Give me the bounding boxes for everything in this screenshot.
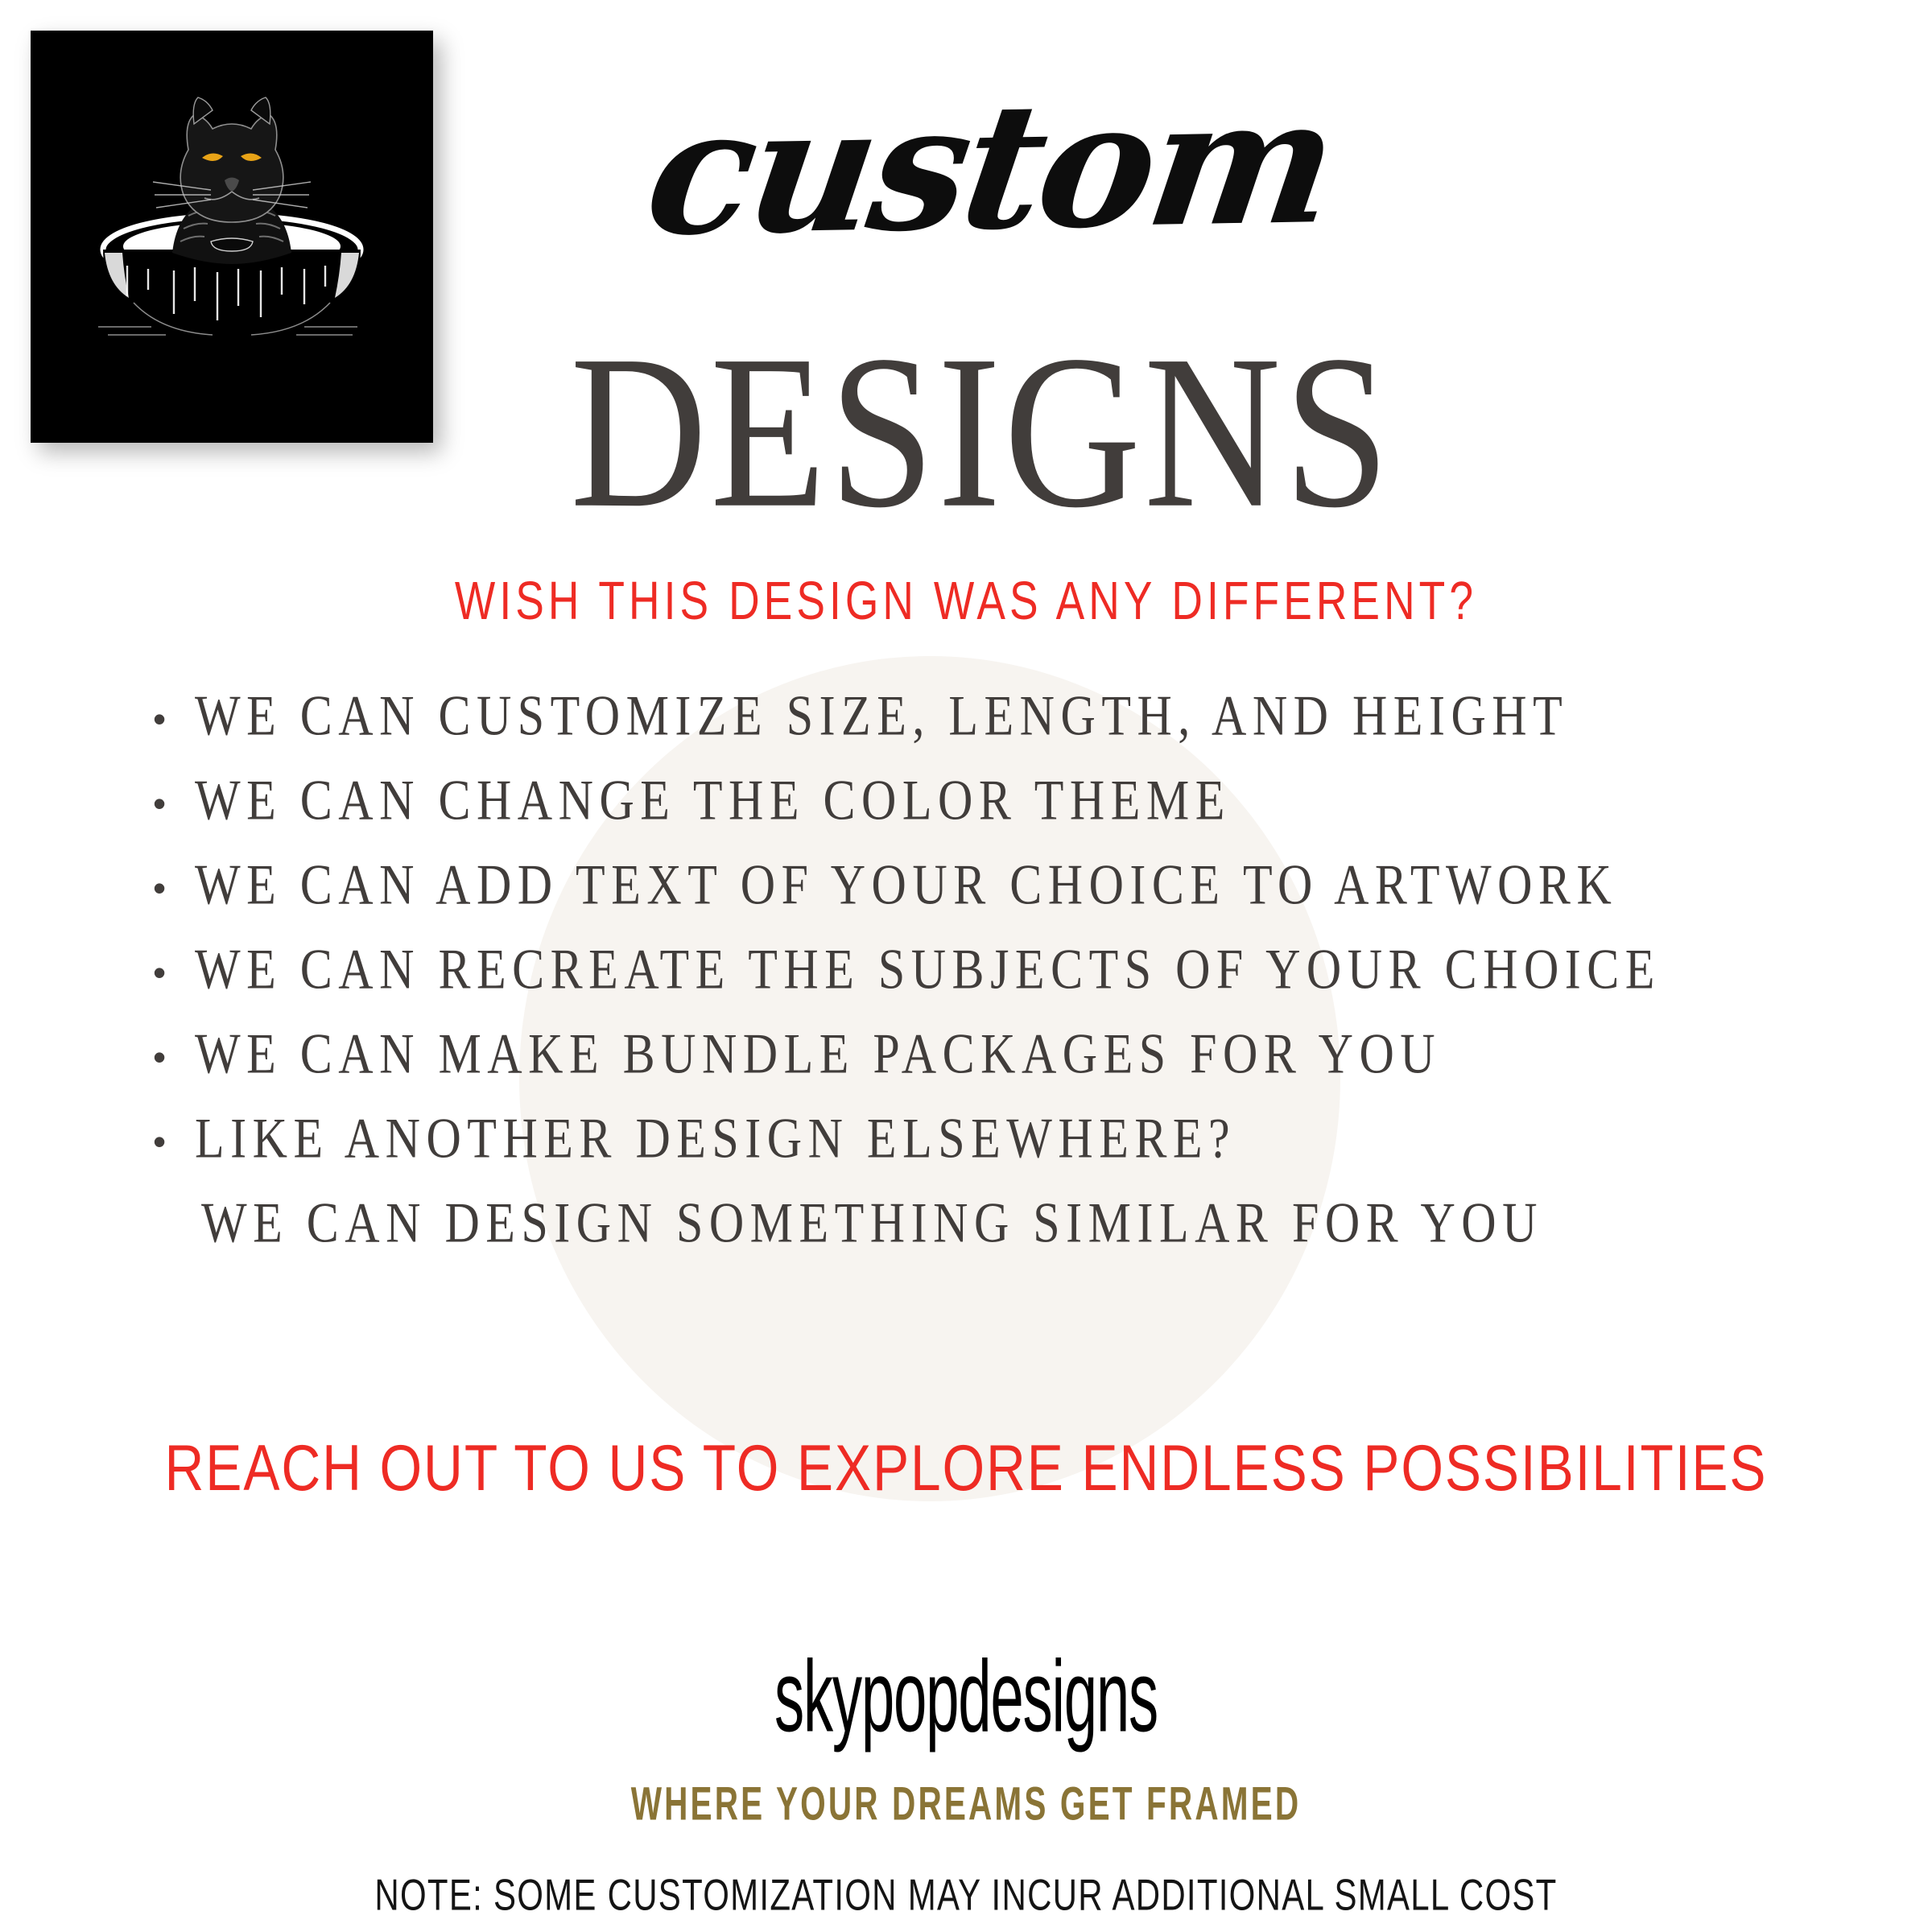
list-item: • WE CAN CHANGE THE COLOR THEME [153, 773, 1843, 857]
list-item: • WE CAN MAKE BUNDLE PACKAGES FOR YOU [153, 1026, 1843, 1111]
list-item-label: WE CAN MAKE BUNDLE PACKAGES FOR YOU [195, 1022, 1441, 1087]
list-item: • LIKE ANOTHER DESIGN ELSEWHERE? [153, 1111, 1843, 1195]
bullet-dot-icon: • [153, 785, 195, 822]
footer-note: NOTE: SOME CUSTOMIZATION MAY INCUR ADDIT… [155, 1869, 1777, 1921]
list-item: • WE CAN ADD TEXT OF YOUR CHOICE TO ARTW… [153, 857, 1843, 942]
list-item-continuation: WE CAN DESIGN SOMETHING SIMILAR FOR YOU [153, 1195, 1843, 1280]
call-to-action-text: REACH OUT TO US TO EXPLORE ENDLESS POSSI… [58, 1431, 1874, 1505]
bullet-dot-icon: • [153, 700, 195, 737]
list-item-label: WE CAN RECREATE THE SUBJECTS OF YOUR CHO… [195, 937, 1661, 1002]
list-item-label: WE CAN CUSTOMIZE SIZE, LENGTH, AND HEIGH… [195, 683, 1568, 749]
list-item: • WE CAN CUSTOMIZE SIZE, LENGTH, AND HEI… [153, 688, 1843, 773]
bullet-dot-icon: • [153, 1123, 195, 1160]
panther-bathtub-illustration [31, 31, 433, 443]
features-list: • WE CAN CUSTOMIZE SIZE, LENGTH, AND HEI… [153, 688, 1843, 1280]
bullet-dot-icon: • [153, 1038, 195, 1075]
list-item-label: WE CAN ADD TEXT OF YOUR CHOICE TO ARTWOR… [195, 852, 1617, 918]
list-item-label: LIKE ANOTHER DESIGN ELSEWHERE? [195, 1106, 1236, 1171]
bullet-dot-icon: • [153, 869, 195, 906]
product-artwork-thumbnail[interactable] [31, 31, 433, 443]
red-question-subtitle: WISH THIS DESIGN WAS ANY DIFFERENT? [77, 570, 1855, 632]
list-item-label: WE CAN DESIGN SOMETHING SIMILAR FOR YOU [201, 1191, 1543, 1256]
bullet-dot-icon: • [153, 954, 195, 991]
brand-tagline: WHERE YOUR DREAMS GET FRAMED [213, 1777, 1719, 1831]
list-item: • WE CAN RECREATE THE SUBJECTS OF YOUR C… [153, 942, 1843, 1026]
brand-name: skypopdesigns [367, 1638, 1565, 1755]
list-item-label: WE CAN CHANGE THE COLOR THEME [195, 768, 1231, 833]
